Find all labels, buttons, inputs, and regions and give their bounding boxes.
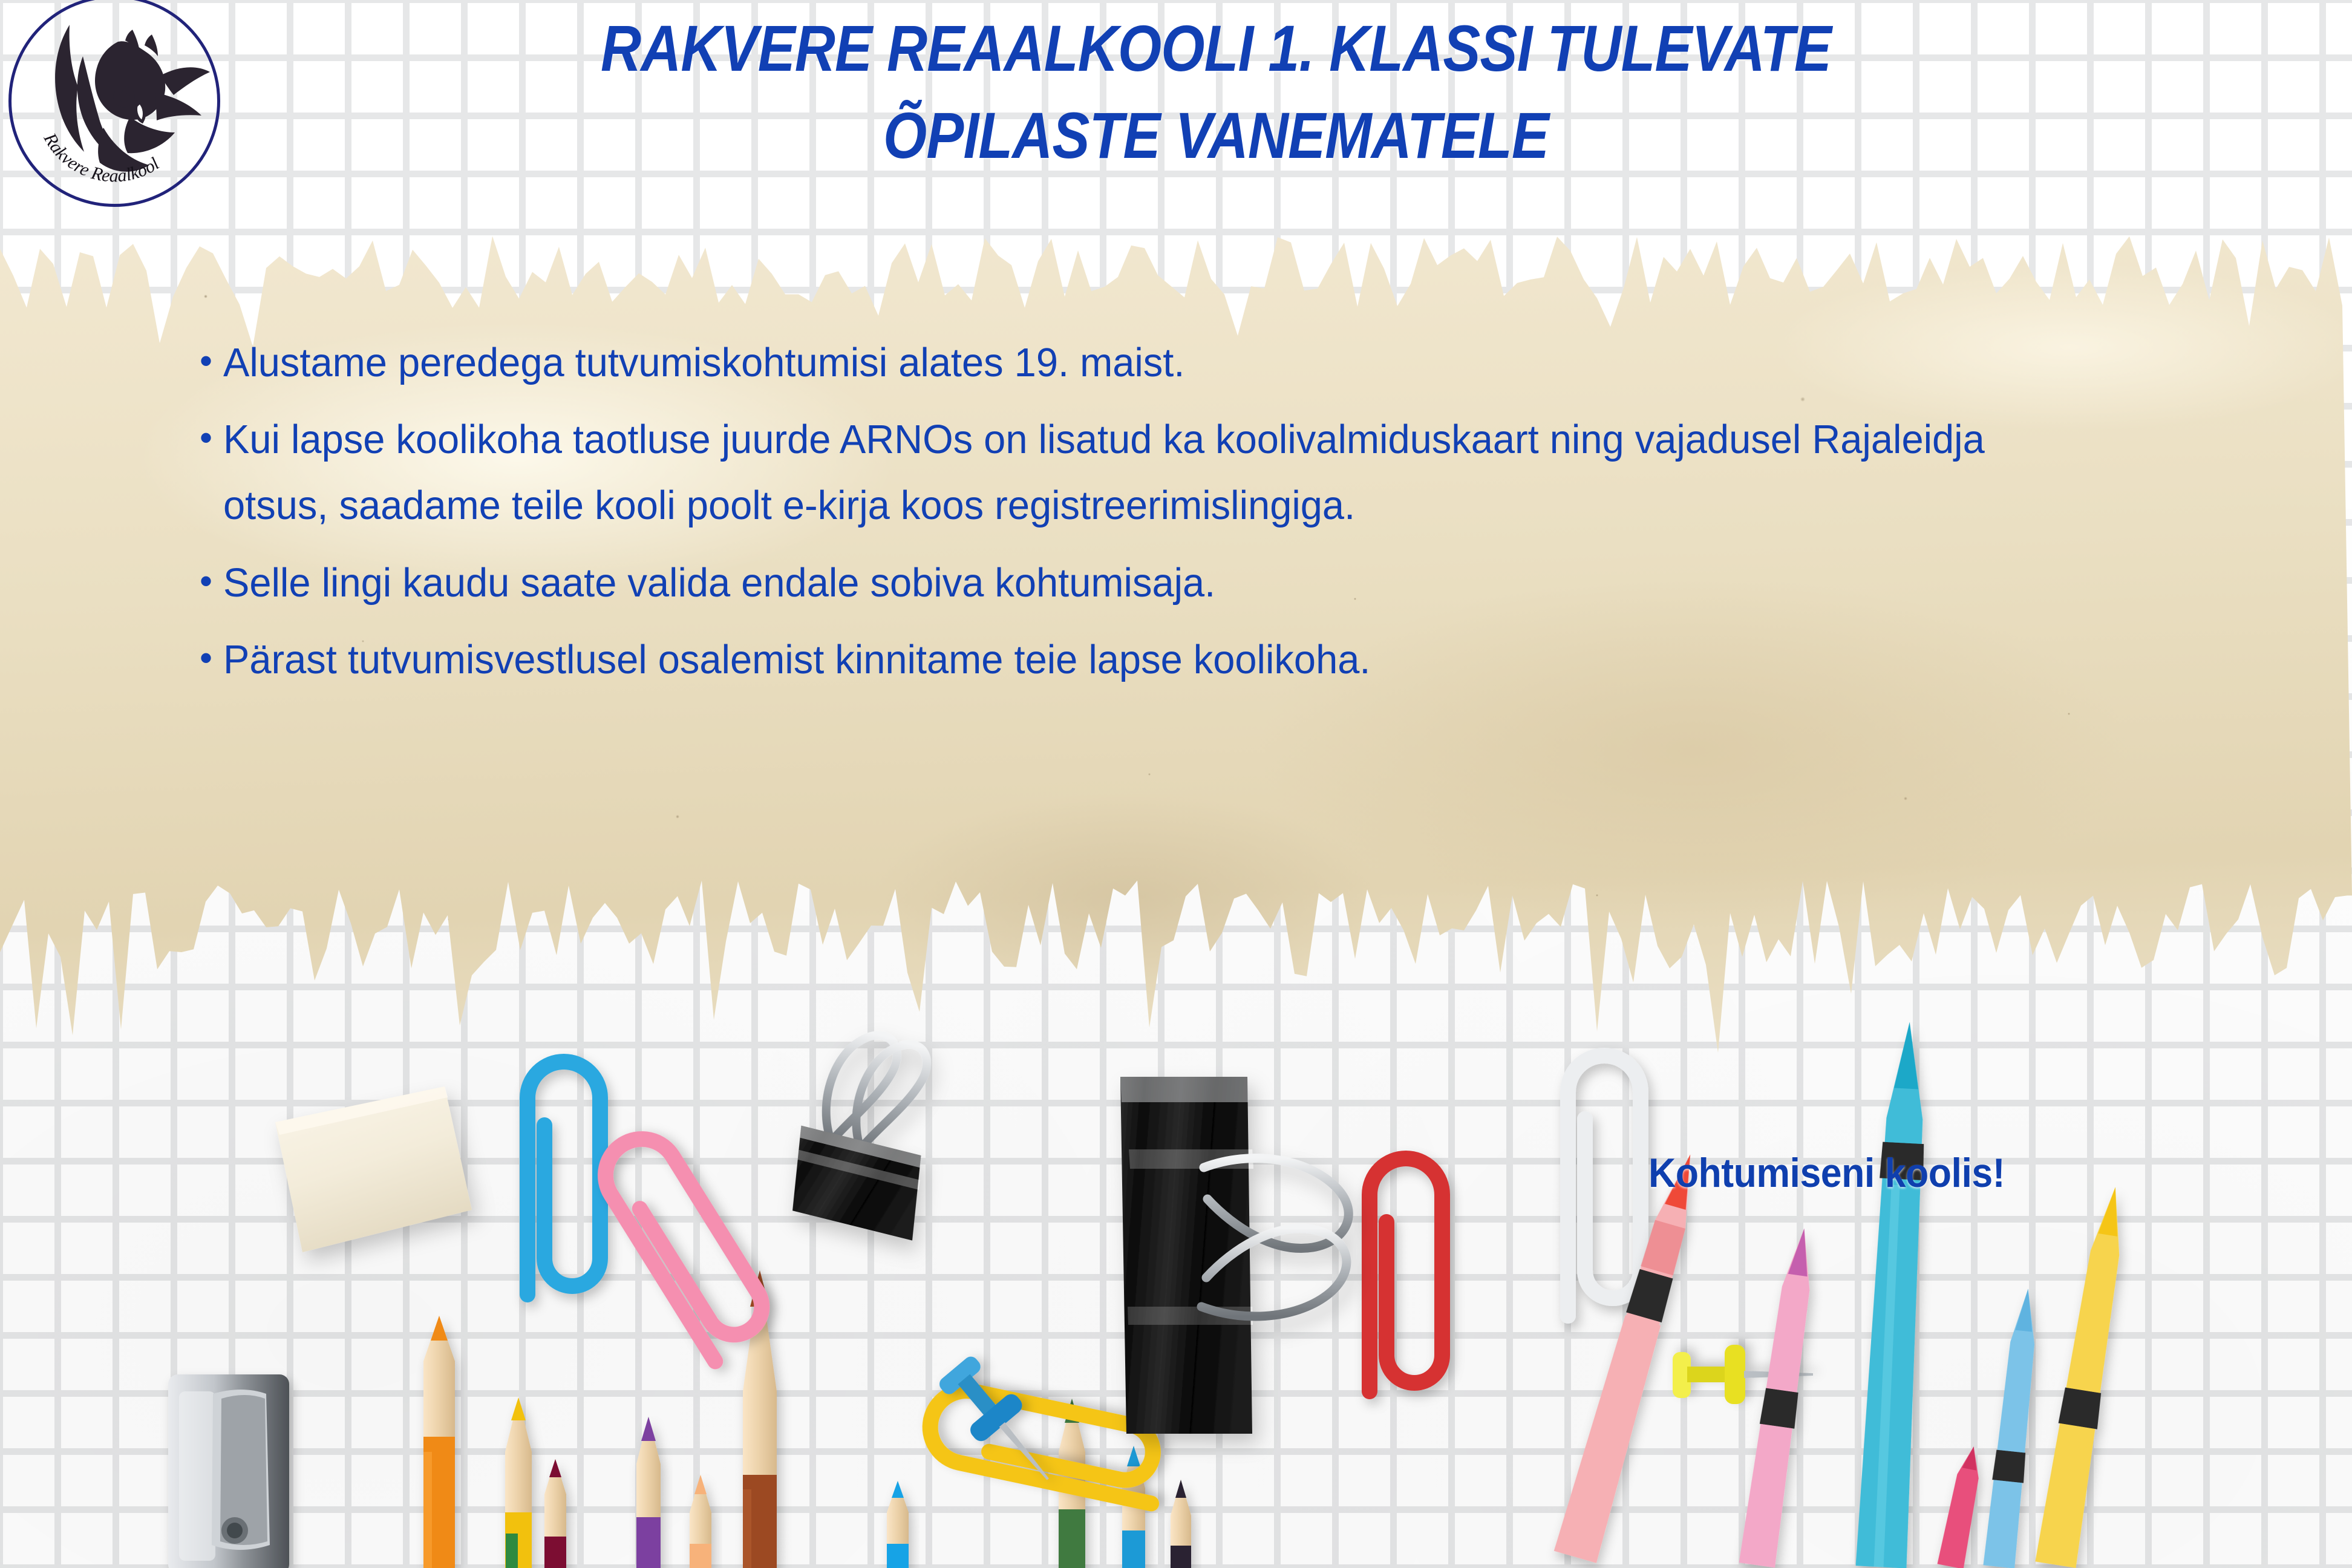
crayon-teal	[1856, 1021, 1935, 1568]
title-line-1: RAKVERE REAALKOOLI 1. KLASSI TULEVATE	[462, 5, 1970, 92]
crayon-magenta	[1739, 1226, 1823, 1568]
list-item: • Selle lingi kaudu saate valida endale …	[200, 550, 2123, 616]
paperclip-red	[1370, 1158, 1442, 1391]
binder-clip-large-black	[1120, 1077, 1348, 1434]
paperclip-pink	[592, 1125, 777, 1361]
crayon-yellow	[2035, 1184, 2135, 1568]
list-item: • Pärast tutvumisvestlusel osalemist kin…	[200, 627, 2123, 693]
bullet-text: Alustame peredega tutvumiskohtumisi alat…	[223, 330, 1184, 396]
pencil-orange	[423, 1316, 455, 1568]
bullet-text: Kui lapse koolikoha taotluse juurde ARNO…	[223, 407, 2066, 538]
pencil-cyan	[887, 1481, 909, 1568]
bullet-dot-icon: •	[200, 420, 212, 456]
eraser	[275, 1086, 472, 1252]
binder-clip-small-black	[781, 1022, 959, 1240]
paperclip-white	[1568, 1056, 1641, 1316]
closing-message: Kohtumiseni koolis!	[1648, 1149, 2005, 1197]
pencil-sharpener	[168, 1374, 289, 1568]
bullet-text: Selle lingi kaudu saate valida endale so…	[223, 550, 1215, 616]
title-line-2: ÕPILASTE VANEMATELE	[462, 92, 1970, 179]
list-item: • Kui lapse koolikoha taotluse juurde AR…	[200, 407, 2123, 538]
pencil-peach	[690, 1475, 711, 1568]
bullet-list: • Alustame peredega tutvumiskohtumisi al…	[200, 330, 2123, 704]
crayon-lightblue	[1983, 1287, 2043, 1568]
paperclip-blue	[528, 1062, 600, 1295]
list-item: • Alustame peredega tutvumiskohtumisi al…	[200, 330, 2123, 396]
bullet-text: Pärast tutvumisvestlusel osalemist kinni…	[223, 627, 1370, 693]
pencil-darkred	[544, 1459, 566, 1568]
page-title: RAKVERE REAALKOOLI 1. KLASSI TULEVATE ÕP…	[339, 5, 2093, 178]
bullet-dot-icon: •	[200, 343, 212, 379]
rakvere-reaalkool-owl-logo: Rakvere Reaalkool	[8, 0, 220, 207]
pencil-black	[1171, 1480, 1191, 1568]
crayon-pink	[1937, 1444, 1987, 1568]
pencil-purple	[636, 1417, 661, 1568]
pencil-yellow	[505, 1397, 532, 1568]
bullet-dot-icon: •	[200, 563, 212, 599]
stationery-illustration	[0, 968, 2352, 1568]
bullet-dot-icon: •	[200, 640, 212, 676]
